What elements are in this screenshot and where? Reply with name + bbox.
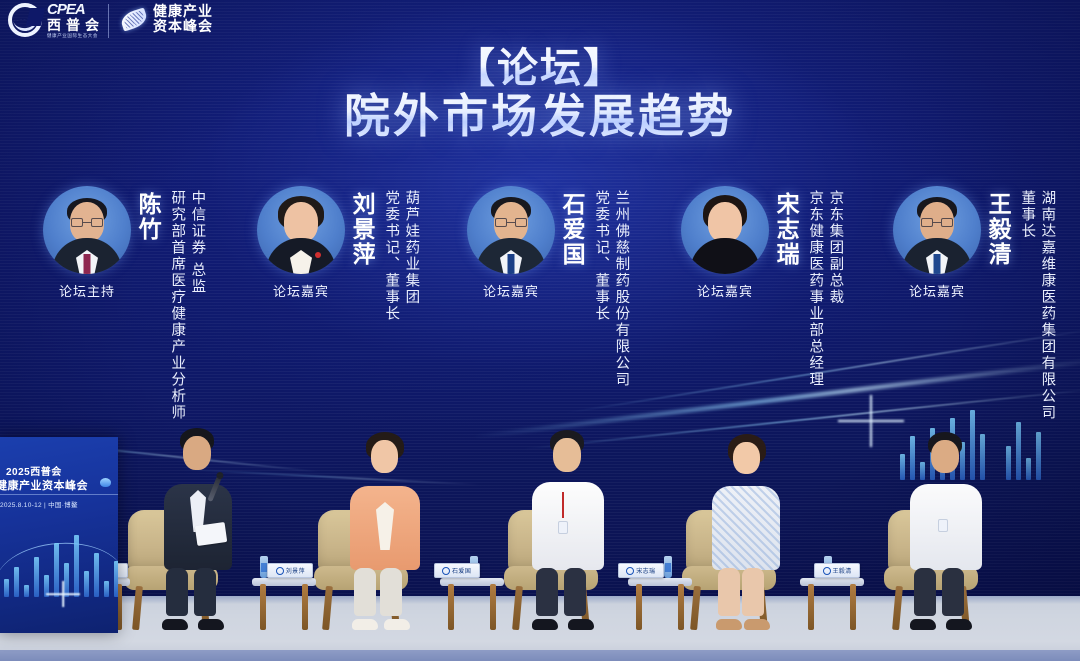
forum-title-line1: 【论坛】 [0,46,1080,92]
speaker-role: 论坛主持 [59,281,115,300]
speaker-card-songzhirui: 论坛嘉宾 宋志瑞 京东健康医药事业部总经理 京东集团副总裁 [672,186,843,388]
speaker-card-liujingping: 论坛嘉宾 刘景萍 党委书记、董事长 葫芦娃药业集团 [248,186,419,322]
health-capital-summit-logo: 健康产业 资本峰会 [121,4,213,34]
podium-star-glow [44,575,82,613]
speaker-avatar [467,186,555,274]
forum-title-line2: 院外市场发展趋势 [0,90,1080,143]
speaker-role: 论坛嘉宾 [483,281,539,300]
speaker-strip: 论坛主持 陈竹 研究部首席医疗健康产业分析师 中信证券 总监 论坛嘉宾 刘景萍 [0,186,1080,426]
summit-logo-line2: 资本峰会 [153,19,213,34]
speaker-titles: 董事长 湖南达嘉维康医药集团有限公司 [1015,190,1055,421]
cpea-logo-en: CPEA [47,2,104,17]
name-badge [558,521,568,534]
speaker-avatar [893,186,981,274]
cpea-logo: CPEA 西普会 健康产业国际生态大会 [8,2,104,39]
speaker-name: 石爱国 [560,192,584,267]
name-badge [938,519,948,532]
speaker-title-line: 兰州佛慈制药股份有限公司 [612,190,629,388]
panelist-person [520,422,616,630]
plate-logo-icon [626,567,634,575]
speaker-title-line: 董事长 [1018,190,1035,421]
name-plate: 石爱国 [434,563,480,578]
paper-notes [195,522,227,546]
name-plate-text: 王毅清 [833,566,852,575]
top-logo-bar: CPEA 西普会 健康产业国际生态大会 健康产业 资本峰会 [0,0,1080,44]
forum-title: 【论坛】 院外市场发展趋势 [0,46,1080,143]
podium-rule [0,494,118,495]
name-plate: 宋志瑞 [618,563,664,578]
speaker-card-chenzhu: 论坛主持 陈竹 研究部首席医疗健康产业分析师 中信证券 总监 [34,186,205,421]
speaker-titles: 党委书记、董事长 葫芦娃药业集团 [379,190,419,322]
speaker-name: 陈竹 [136,192,160,242]
speaker-role: 论坛嘉宾 [697,281,753,300]
cpea-logo-sub: 健康产业国际生态大会 [47,34,104,39]
name-plate-text: 石爱国 [452,566,471,575]
speaker-avatar [43,186,131,274]
speaker-titles: 研究部首席医疗健康产业分析师 中信证券 总监 [165,190,205,421]
speaker-name: 宋志瑞 [774,192,798,267]
panelist-person [338,424,432,630]
speaker-title-line: 中信证券 总监 [188,190,205,421]
name-plate-text: 刘景萍 [286,566,305,575]
speaker-titles: 党委书记、董事长 兰州佛慈制药股份有限公司 [589,190,629,388]
speaker-title-line: 研究部首席医疗健康产业分析师 [168,190,185,421]
speaker-avatar [257,186,345,274]
panel-seating-area: 刘景萍 石爱国 宋志瑞 王毅清 [0,400,1080,630]
plate-logo-icon [823,567,831,575]
logo-divider [108,4,109,38]
name-plate-text: 宋志瑞 [636,566,655,575]
summit-logo-line1: 健康产业 [153,4,213,19]
podium-line1: 2025西普会 [6,463,62,478]
panelist-person [150,418,246,630]
speaker-name: 王毅清 [986,192,1010,267]
podium-date: 2025.8.10-12 | 中国·博鳌 [0,499,78,509]
speaker-title-line: 湖南达嘉维康医药集团有限公司 [1038,190,1055,421]
speaker-card-wangyiqing: 论坛嘉宾 王毅清 董事长 湖南达嘉维康医药集团有限公司 [884,186,1055,421]
name-plate: 刘景萍 [267,563,313,578]
floor-edge-strip [0,650,1080,661]
speaker-role: 论坛嘉宾 [273,281,329,300]
speaker-role: 论坛嘉宾 [909,281,965,300]
conference-stage-photo: CPEA 西普会 健康产业国际生态大会 健康产业 资本峰会 【论坛】 院外市场发… [0,0,1080,661]
speaker-title-line: 党委书记、董事长 [592,190,609,388]
lanyard [562,492,564,518]
speaker-name: 刘景萍 [350,192,374,267]
side-table: 王毅清 [800,522,864,630]
speaker-title-line: 京东集团副总裁 [826,190,843,388]
speaker-card-shiaiguo: 论坛嘉宾 石爱国 党委书记、董事长 兰州佛慈制药股份有限公司 [458,186,629,388]
podium-line2: 健康产业资本峰会 [0,477,88,493]
speaker-avatar [681,186,769,274]
side-table: 刘景萍 [252,522,316,630]
cpea-ring-icon [8,3,42,37]
cpea-logo-cn: 西普会 [47,18,104,32]
speaker-title-line: 党委书记、董事长 [382,190,399,322]
panelist-person [700,426,792,630]
name-plate: 王毅清 [814,563,860,578]
speaker-title-line: 京东健康医药事业部总经理 [806,190,823,388]
speaker-title-line: 葫芦娃药业集团 [402,190,419,322]
podium-banner: 2025西普会 健康产业资本峰会 2025.8.10-12 | 中国·博鳌 [0,437,118,633]
side-table: 宋志瑞 [628,522,692,630]
plate-logo-icon [276,567,284,575]
podium-leaf-icon [100,478,111,487]
panelist-person [898,424,994,630]
leaf-icon [119,7,149,31]
side-table: 石爱国 [440,522,504,630]
plate-logo-icon [442,567,450,575]
speaker-titles: 京东健康医药事业部总经理 京东集团副总裁 [803,190,843,388]
